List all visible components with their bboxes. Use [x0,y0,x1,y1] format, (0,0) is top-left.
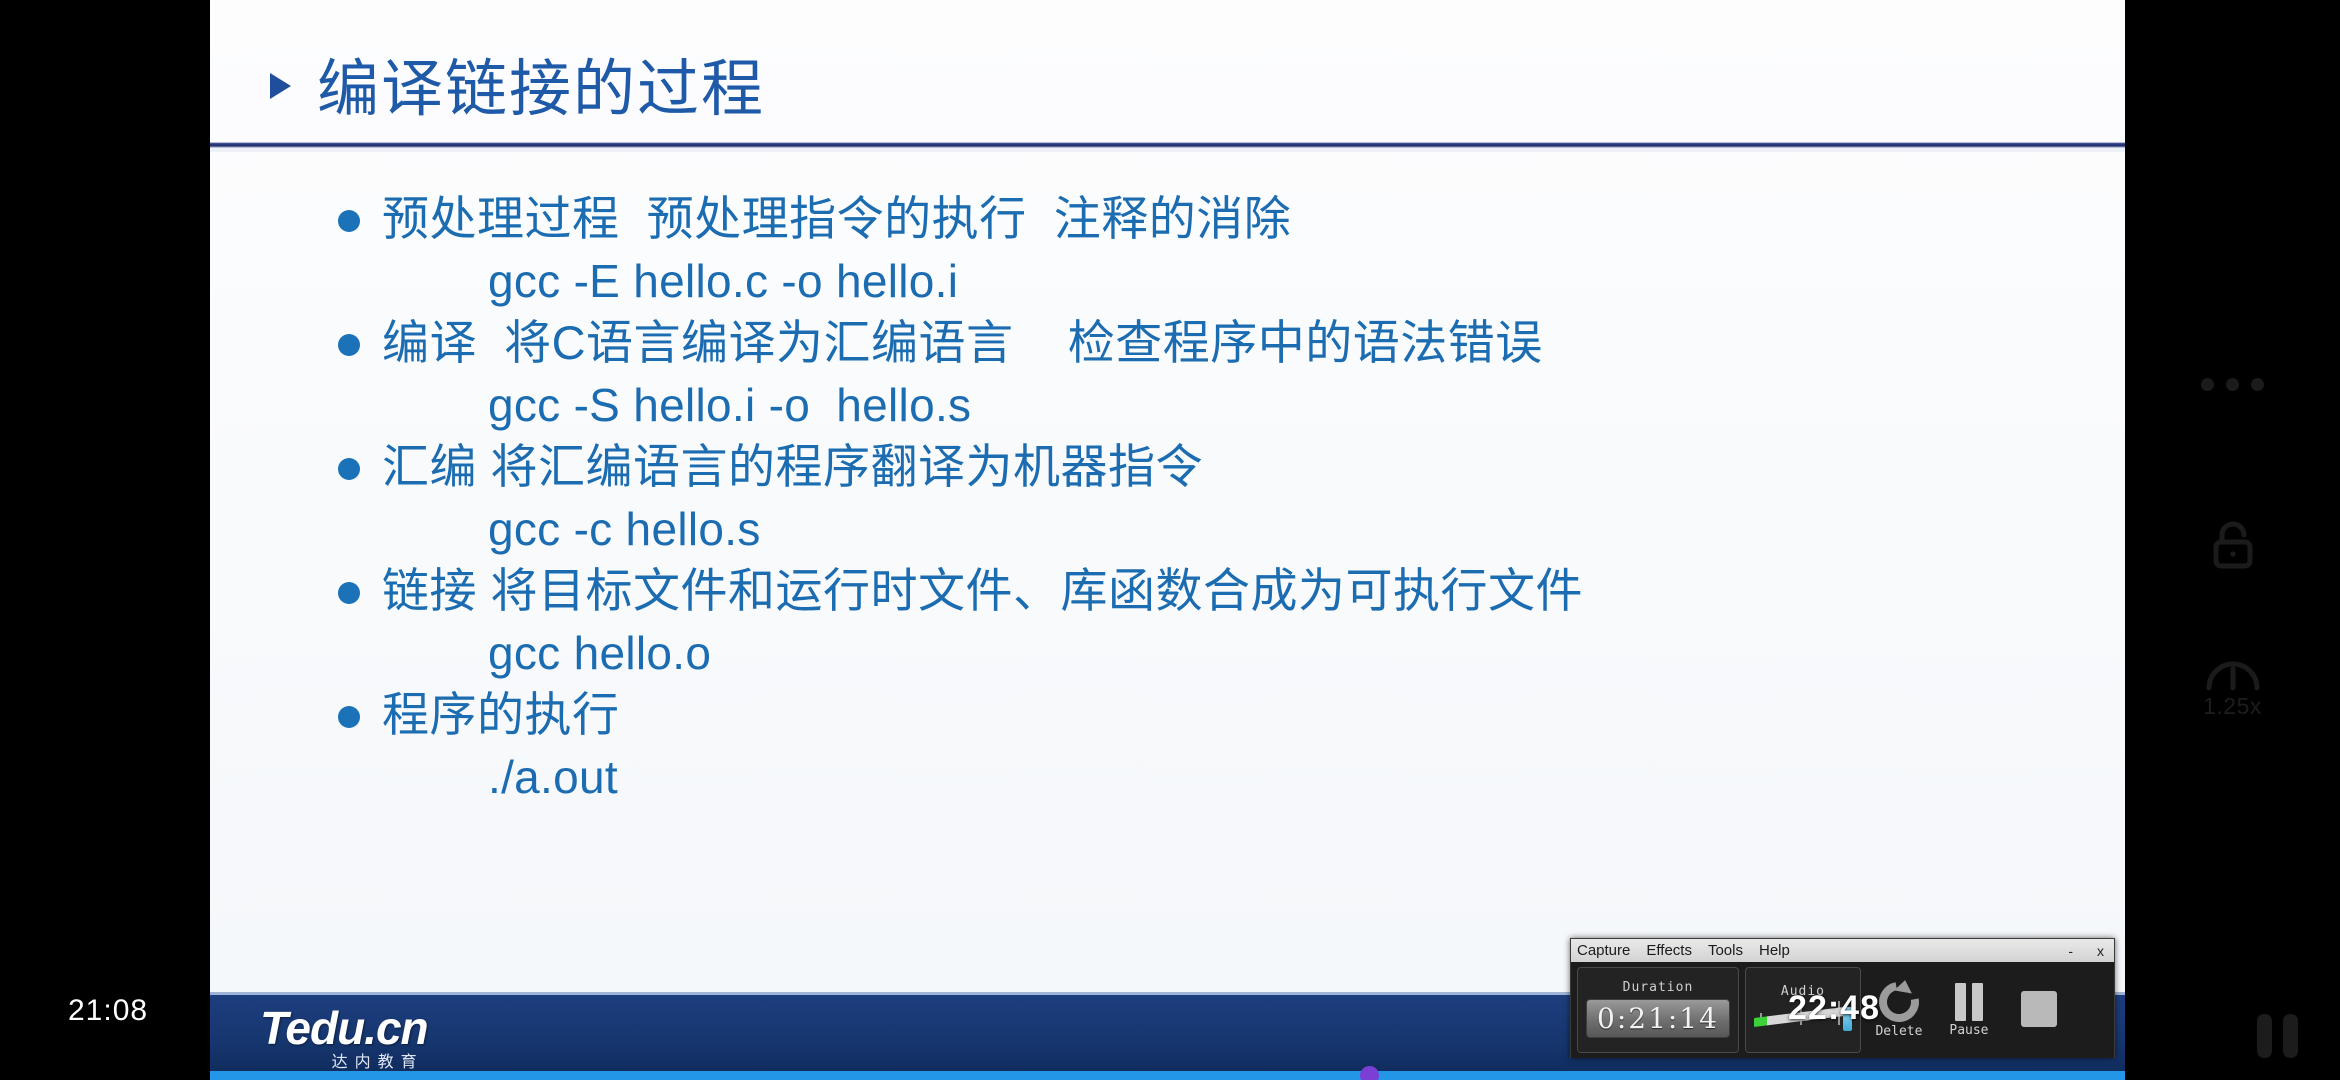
minimize-icon[interactable]: - [2064,943,2077,959]
list-item: 链接 将目标文件和运行时文件、库函数合成为可执行文件 [338,560,2058,621]
bullet-dot-icon [338,210,360,232]
bullet-text: 汇编 将汇编语言的程序翻译为机器指令 [382,436,1203,497]
unlock-icon [2202,515,2264,577]
pause-button-label: Pause [1949,1023,1988,1038]
bullet-command: gcc -S hello.i -o hello.s [338,375,2058,436]
pause-icon [1955,983,1983,1021]
bullet-command: gcc -c hello.s [338,499,2058,560]
pause-button[interactable]: Pause [1937,967,2001,1053]
recorder-menubar[interactable]: Capture Effects Tools Help - x [1571,939,2114,962]
playback-speed-label: 1.25x [2203,693,2262,720]
player-control-rail: 1.25x [2125,0,2340,1080]
bullet-text: 程序的执行 [382,684,620,745]
bullet-dot-icon [338,334,360,356]
logo-wordmark: Tedu.cn [260,1005,428,1051]
menu-item-help[interactable]: Help [1759,942,1790,959]
pause-icon [2283,1014,2298,1058]
video-player-screen: 编译链接的过程 预处理过程 预处理指令的执行 注释的消除 gcc -E hell… [0,0,2340,1080]
more-options-button[interactable] [2125,378,2340,391]
duration-panel: Duration 0:21:14 [1577,967,1739,1053]
tedu-logo: Tedu.cn 达内教育 [260,1005,428,1071]
duration-label: Duration [1623,980,1694,995]
menu-item-effects[interactable]: Effects [1646,942,1692,959]
list-item: 程序的执行 [338,684,2058,745]
bullet-list: 预处理过程 预处理指令的执行 注释的消除 gcc -E hello.c -o h… [338,188,2058,808]
video-stage[interactable]: 编译链接的过程 预处理过程 预处理指令的执行 注释的消除 gcc -E hell… [210,0,2125,1080]
list-item: 编译 将C语言编译为汇编语言 检查程序中的语法错误 [338,312,2058,373]
delete-button-label: Delete [1875,1024,1922,1039]
pause-icon [2257,1014,2272,1058]
bullet-command: ./a.out [338,747,2058,808]
total-time: 22:48 [1788,989,1880,1028]
bullet-text: 预处理过程 预处理指令的执行 注释的消除 [382,188,1291,249]
close-icon[interactable]: x [2093,943,2108,959]
slide-header: 编译链接的过程 [270,38,765,128]
bullet-dot-icon [338,582,360,604]
menu-item-capture[interactable]: Capture [1577,942,1630,959]
stop-icon [2021,991,2057,1027]
screen-lock-button[interactable] [2125,515,2340,577]
bullet-command: gcc -E hello.c -o hello.i [338,251,2058,312]
bullet-dot-icon [338,706,360,728]
title-divider-highlight [210,148,2125,152]
progress-handle[interactable] [1360,1066,1379,1080]
page-title: 编译链接的过程 [317,38,765,128]
speed-gauge-icon [2202,655,2264,691]
elapsed-time: 21:08 [68,994,148,1028]
bullet-text: 链接 将目标文件和运行时文件、库函数合成为可执行文件 [382,560,1583,621]
list-item: 汇编 将汇编语言的程序翻译为机器指令 [338,436,2058,497]
progress-bar[interactable] [210,1071,2125,1080]
triangle-bullet-icon [270,73,291,99]
more-dots-icon [2201,378,2264,391]
duration-value: 0:21:14 [1586,999,1730,1038]
menu-item-tools[interactable]: Tools [1708,942,1743,959]
stop-button[interactable] [2007,967,2071,1053]
logo-subtitle: 达内教育 [260,1055,428,1071]
presentation-slide: 编译链接的过程 预处理过程 预处理指令的执行 注释的消除 gcc -E hell… [210,0,2125,1080]
playback-speed-button[interactable]: 1.25x [2125,655,2340,720]
bullet-dot-icon [338,458,360,480]
bullet-command: gcc hello.o [338,623,2058,684]
list-item: 预处理过程 预处理指令的执行 注释的消除 [338,188,2058,249]
bullet-text: 编译 将C语言编译为汇编语言 检查程序中的语法错误 [382,312,1543,373]
play-pause-button[interactable] [2257,1014,2298,1058]
